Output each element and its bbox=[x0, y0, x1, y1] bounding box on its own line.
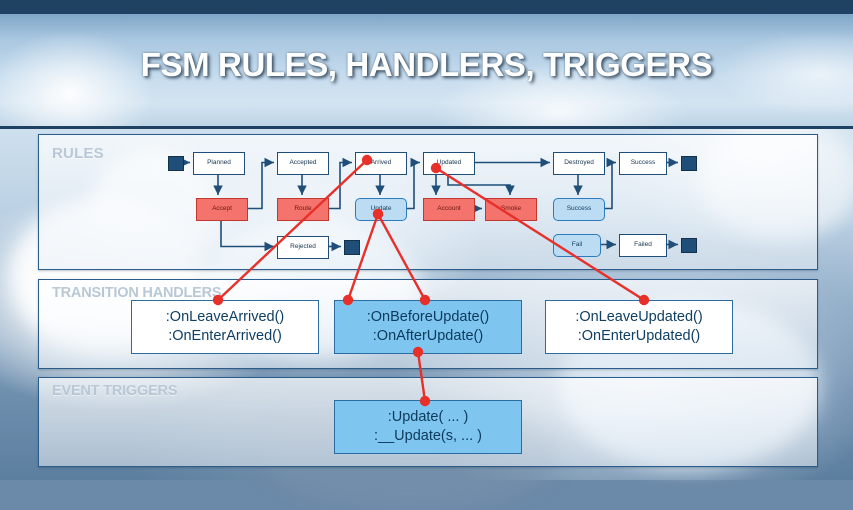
fsm-node-label: Arrived bbox=[371, 160, 392, 167]
fsm-node-label: Planned bbox=[207, 160, 231, 167]
code-line: :OnAfterUpdate() bbox=[373, 327, 483, 346]
fsm-node-smoke: Smoke bbox=[485, 198, 537, 221]
code-line: :OnLeaveUpdated() bbox=[575, 308, 702, 327]
fsm-node-end-top bbox=[681, 156, 697, 171]
handler-box-arrived-handlers: :OnLeaveArrived():OnEnterArrived() bbox=[131, 300, 319, 354]
code-line: :Update( ... ) bbox=[388, 408, 469, 427]
fsm-node-fail: Fail bbox=[553, 234, 601, 257]
fsm-node-label: Destroyed bbox=[564, 160, 594, 167]
fsm-node-end-rej bbox=[344, 240, 360, 255]
fsm-node-arrived: Arrived bbox=[355, 152, 407, 175]
fsm-node-label: Updated bbox=[437, 160, 462, 167]
fsm-node-update: Update bbox=[355, 198, 407, 221]
fsm-node-label: Route bbox=[294, 206, 311, 213]
fsm-node-start bbox=[168, 156, 184, 171]
fsm-node-success-a: Success bbox=[553, 198, 605, 221]
fsm-node-account: Account bbox=[423, 198, 475, 221]
fsm-node-label: Success bbox=[567, 206, 592, 213]
fsm-node-accept: Accept bbox=[196, 198, 248, 221]
fsm-node-label: Failed bbox=[634, 242, 652, 249]
fsm-node-success-s: Success bbox=[619, 152, 667, 175]
fsm-node-label: Update bbox=[371, 206, 392, 213]
code-line: :OnBeforeUpdate() bbox=[367, 308, 490, 327]
handler-box-updated-handlers: :OnLeaveUpdated():OnEnterUpdated() bbox=[545, 300, 733, 354]
fsm-node-label: Rejected bbox=[290, 244, 316, 251]
header-divider bbox=[0, 126, 853, 129]
code-line: :__Update(s, ... ) bbox=[374, 427, 482, 446]
fsm-node-label: Accepted bbox=[289, 160, 316, 167]
code-line: :OnEnterUpdated() bbox=[578, 327, 701, 346]
fsm-node-label: Accept bbox=[212, 206, 232, 213]
top-accent-bar bbox=[0, 0, 853, 14]
handler-box-update-handlers: :OnBeforeUpdate():OnAfterUpdate() bbox=[334, 300, 522, 354]
trigger-box-update-trigger: :Update( ... ):__Update(s, ... ) bbox=[334, 400, 522, 454]
fsm-node-updated: Updated bbox=[423, 152, 475, 175]
fsm-node-end-fail bbox=[681, 238, 697, 253]
code-line: :OnEnterArrived() bbox=[168, 327, 282, 346]
fsm-node-planned: Planned bbox=[193, 152, 245, 175]
fsm-node-label: Fail bbox=[572, 242, 582, 249]
fsm-node-label: Smoke bbox=[501, 206, 521, 213]
fsm-node-failed: Failed bbox=[619, 234, 667, 257]
code-line: :OnLeaveArrived() bbox=[166, 308, 284, 327]
fsm-node-destroyed: Destroyed bbox=[553, 152, 605, 175]
page-title: FSM RULES, HANDLERS, TRIGGERS bbox=[0, 46, 853, 84]
fsm-node-accepted: Accepted bbox=[277, 152, 329, 175]
fsm-node-rejected: Rejected bbox=[277, 236, 329, 259]
fsm-node-route: Route bbox=[277, 198, 329, 221]
fsm-node-label: Success bbox=[631, 160, 656, 167]
fsm-node-label: Account bbox=[437, 206, 461, 213]
